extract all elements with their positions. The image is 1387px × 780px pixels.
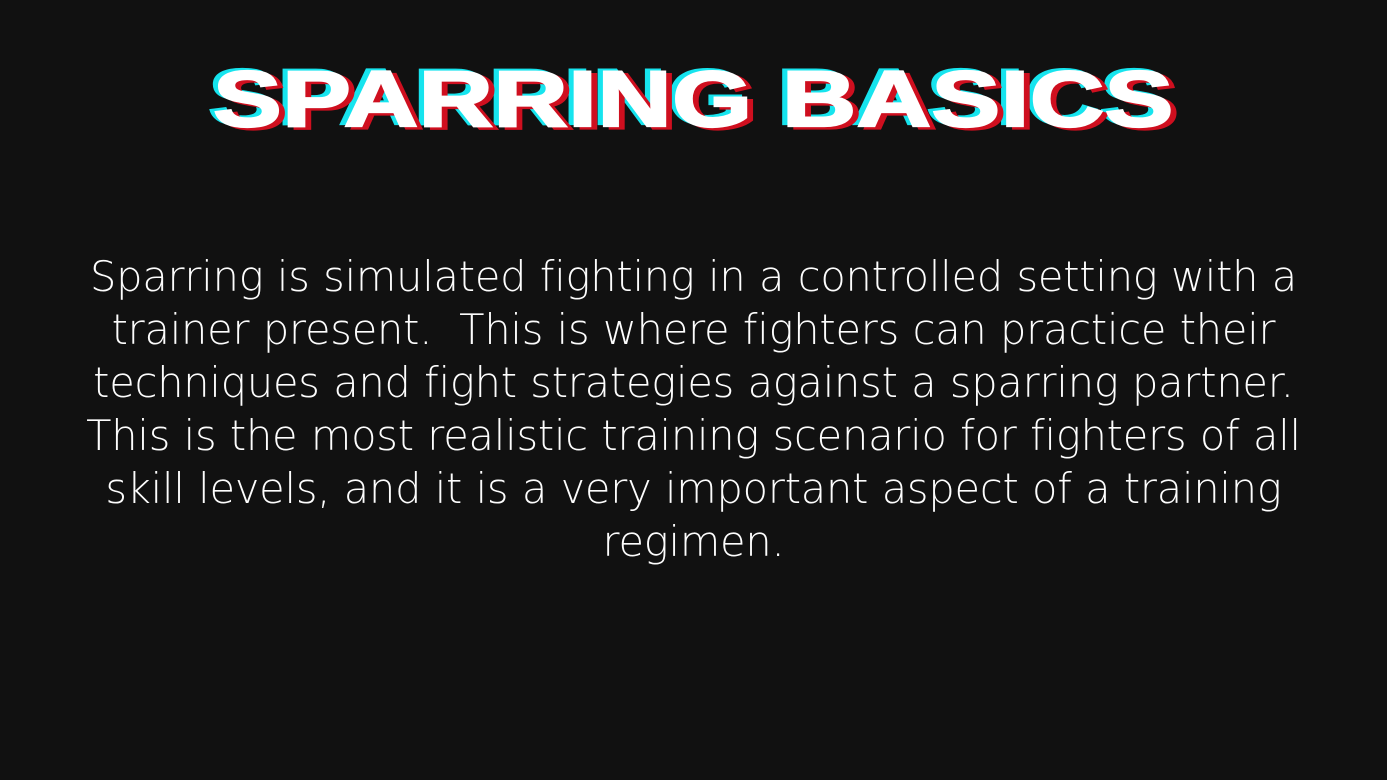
slide-title-container: SPARRING BASICS SPARRING BASICS SPARRING… [0,48,1387,148]
slide-body-text: Sparring is simulated fighting in a cont… [79,250,1309,568]
slide-body-container: Sparring is simulated fighting in a cont… [79,250,1309,568]
slide-title-glitch: SPARRING BASICS SPARRING BASICS SPARRING… [213,59,1174,138]
page-title: SPARRING BASICS [213,54,1174,143]
presentation-slide: SPARRING BASICS SPARRING BASICS SPARRING… [0,0,1387,780]
